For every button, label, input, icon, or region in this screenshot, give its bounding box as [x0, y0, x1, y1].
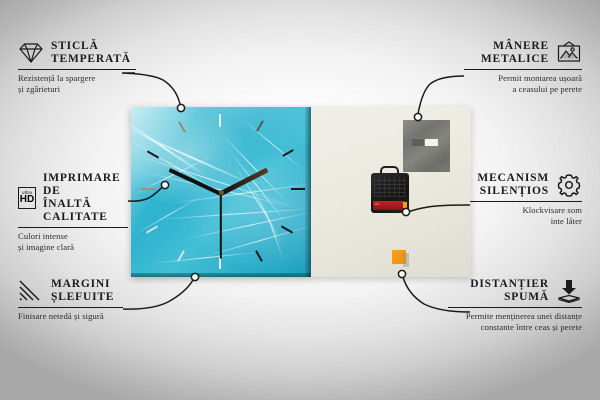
gear-icon [556, 173, 582, 197]
foam-spacer-shadow [403, 253, 409, 267]
mechanism-texture [374, 177, 406, 197]
callout-margini-slefuite: MARGINI ȘLEFUITE Finisare netedă și sigu… [18, 278, 123, 322]
callout-header: MARGINI ȘLEFUITE [18, 278, 123, 304]
callout-description: Rezistență la spargere și zgârieturi [18, 73, 136, 94]
callout-description: Permite menținerea unei distanțe constan… [448, 311, 582, 332]
callout-rule [470, 201, 582, 202]
clock-front-view [131, 107, 311, 277]
hanger-slot [412, 139, 438, 146]
leader-line-3 [123, 280, 193, 309]
callout-description: Permit montarea ușoară a ceasului pe per… [464, 73, 582, 94]
callout-title: MECANISM SILENȚIOS [470, 172, 549, 198]
callout-description: Klockvisare som inte låter [470, 205, 582, 226]
callout-rule [18, 227, 128, 228]
callout-title: STICLĂ TEMPERATĂ [51, 40, 131, 66]
callout-manere-metalice: MÂNERE METALICE Permit montarea ușoară a… [464, 40, 582, 95]
callout-rule [18, 69, 136, 70]
picture-frame-icon [556, 41, 582, 65]
callout-header: STICLĂ TEMPERATĂ [18, 40, 136, 66]
callout-description: Finisare netedă și sigură [18, 311, 123, 322]
callout-rule [18, 307, 123, 308]
infographic-canvas: AA [0, 0, 600, 400]
callout-sticla-temperata: STICLĂ TEMPERATĂ Rezistență la spargere … [18, 40, 136, 95]
callout-mecanism-silentios: MECANISM SILENȚIOS Klockvisare som inte … [470, 172, 582, 227]
battery-label: AA [375, 202, 379, 206]
callout-title: MARGINI ȘLEFUITE [51, 278, 114, 304]
callout-header: DISTANȚIER SPUMĂ [448, 278, 582, 304]
quartz-mechanism: AA [371, 173, 409, 213]
diamond-icon [18, 41, 44, 65]
callout-rule [448, 307, 582, 308]
clock-tick [141, 188, 155, 190]
ultra-hd-icon-main-label: HD [20, 195, 34, 205]
callout-title: IMPRIMARE DE ÎNALTĂ CALITATE [43, 172, 128, 224]
arrow-down-stack-icon [556, 279, 582, 303]
metal-hanger-plate [403, 120, 450, 172]
hanger-loop [380, 166, 399, 175]
diagonal-lines-icon [18, 279, 44, 303]
glass-bottom-edge [131, 273, 311, 277]
foam-spacer [392, 250, 406, 264]
second-hand [220, 193, 222, 259]
callout-header: MÂNERE METALICE [464, 40, 582, 66]
clock-tick [291, 188, 305, 190]
callout-title: DISTANȚIER SPUMĂ [448, 278, 549, 304]
callout-description: Culori intense și imagine clară [18, 231, 128, 252]
callout-rule [464, 69, 582, 70]
clock-tick [219, 114, 221, 127]
callout-imprimare-inalta-calitate: ultra HD IMPRIMARE DE ÎNALTĂ CALITATE Cu… [18, 172, 128, 253]
battery-terminal [403, 202, 407, 208]
callout-title: MÂNERE METALICE [464, 40, 549, 66]
callout-distantier-spuma: DISTANȚIER SPUMĂ Permite menținerea unei… [448, 278, 582, 333]
clock-center-pivot [219, 190, 224, 195]
callout-header: ultra HD IMPRIMARE DE ÎNALTĂ CALITATE [18, 172, 128, 224]
battery: AA [373, 201, 405, 210]
callout-header: MECANISM SILENȚIOS [470, 172, 582, 198]
ultra-hd-icon: ultra HD [18, 187, 36, 209]
